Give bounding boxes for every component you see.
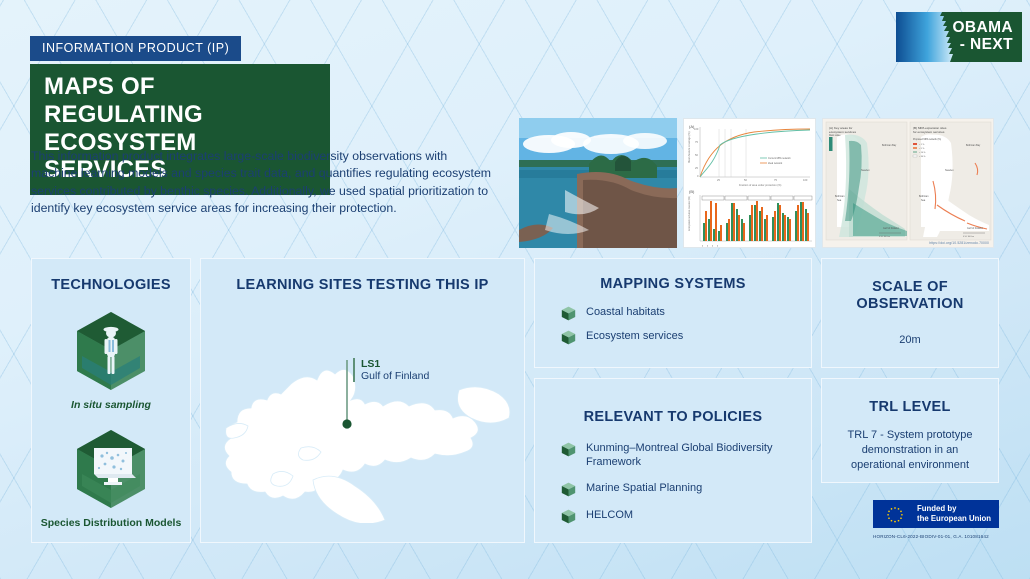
- svg-text:Fraction of area under protect: Fraction of area under protection (%): [739, 183, 782, 187]
- svg-text:+ 30 %: + 30 %: [919, 156, 926, 158]
- svg-text:+ 5 %: + 5 %: [919, 148, 925, 150]
- cube-bullet-icon: [561, 509, 576, 524]
- technology-item-species-distribution-models: Species Distribution Models: [32, 428, 190, 530]
- policies-title: RELEVANT TO POLICIES: [535, 409, 811, 426]
- results-chart-thumbnail: (A) 10075 50250 255075100 Fraction of ar…: [683, 118, 816, 248]
- scale-title: SCALE OF OBSERVATION: [822, 279, 998, 313]
- panel-learning-sites: LEARNING SITES TESTING THIS IP LS1 Gulf …: [200, 258, 525, 543]
- technology-label: Species Distribution Models: [32, 517, 190, 530]
- priority-maps-thumbnail: (A) Key areas for ecosystem services Ran…: [822, 118, 994, 248]
- svg-text:Gulf of Finland: Gulf of Finland: [967, 227, 983, 230]
- doi-link[interactable]: https://doi.org/10.5281/zenodo.70000: [929, 241, 989, 245]
- list-item: Ecosystem services: [561, 329, 811, 345]
- eu-funding-block: Funded by the European Union HORIZON-CL6…: [873, 500, 999, 539]
- eu-funding-line1: Funded by: [917, 504, 991, 514]
- scale-value: 20m: [822, 333, 998, 348]
- learning-site-label: LS1 Gulf of Finland: [353, 358, 429, 382]
- logo-line2: - NEXT: [952, 37, 1013, 54]
- svg-text:(B): (B): [689, 189, 695, 194]
- cube-bullet-icon: [561, 330, 576, 345]
- mapping-systems-title: MAPPING SYSTEMS: [535, 276, 811, 293]
- technology-label-rest: sampling: [102, 399, 151, 411]
- hero-image-row: (A) 10075 50250 255075100 Fraction of ar…: [519, 118, 994, 248]
- technologies-title: TECHNOLOGIES: [32, 277, 190, 294]
- europe-map: LS1 Gulf of Finland: [201, 298, 524, 523]
- eu-flag-icon: [880, 504, 910, 524]
- panel-mapping-systems: MAPPING SYSTEMS Coastal habitats Ecosyst…: [534, 258, 812, 368]
- list-item: Coastal habitats: [561, 305, 811, 321]
- list-item-label: HELCOM: [586, 508, 633, 522]
- svg-text:+ 1 %: + 1 %: [919, 144, 925, 146]
- logo-wave-icon: [896, 12, 956, 62]
- svg-text:100: 100: [803, 178, 808, 182]
- svg-text:0 50 100 km: 0 50 100 km: [879, 236, 890, 238]
- svg-text:ecosystem services: ecosystem services: [829, 130, 856, 134]
- list-item-label: Ecosystem services: [586, 329, 683, 343]
- site-marker: [342, 420, 351, 429]
- technology-label: In situ sampling: [32, 399, 190, 412]
- europe-map-graphic: [201, 298, 526, 523]
- svg-text:Mean feature coverage (%): Mean feature coverage (%): [687, 131, 691, 163]
- list-item: Marine Spatial Planning: [561, 481, 811, 497]
- eu-funding-text: Funded by the European Union: [917, 504, 991, 524]
- intro-paragraph: This information product integrates larg…: [31, 148, 496, 218]
- trl-title: TRL LEVEL: [822, 399, 998, 416]
- svg-text:for ecosystem services: for ecosystem services: [913, 130, 945, 134]
- header: INFORMATION PRODUCT (IP) MAPS OF REGULAT…: [0, 0, 1030, 250]
- coastal-photo: [519, 118, 677, 248]
- obama-next-logo: OBAMA - NEXT: [896, 12, 1022, 62]
- trl-value: TRL 7 - System prototype demonstration i…: [822, 428, 998, 473]
- coastal-photo-graphic: [519, 118, 677, 248]
- list-item: Kunming–Montreal Global Biodiversity Fra…: [561, 441, 811, 470]
- svg-text:Sweden: Sweden: [861, 169, 870, 172]
- svg-text:Stabilisation: Stabilisation: [716, 245, 719, 248]
- svg-text:Ideal network: Ideal network: [768, 162, 783, 165]
- cube-bullet-icon: [561, 442, 576, 457]
- scale-title-line2: OBSERVATION: [822, 296, 998, 313]
- technology-item-in-situ-sampling: In situ sampling: [32, 310, 190, 412]
- results-chart-graphic: (A) 10075 50250 255075100 Fraction of ar…: [684, 119, 816, 248]
- priority-maps-graphic: (A) Key areas for ecosystem services Ran…: [823, 119, 994, 248]
- policies-list: Kunming–Montreal Global Biodiversity Fra…: [561, 441, 811, 524]
- svg-text:Bioirrigation: Bioirrigation: [706, 245, 709, 248]
- eu-funding-line2: the European Union: [917, 514, 991, 524]
- svg-text:Proposed MPA network (%): Proposed MPA network (%): [913, 138, 941, 141]
- technology-label-italic: In situ: [71, 399, 102, 411]
- scale-title-line1: SCALE OF: [822, 279, 998, 296]
- svg-text:+ 10 %: + 10 %: [919, 152, 926, 154]
- list-item-label: Coastal habitats: [586, 305, 665, 319]
- svg-text:Bioturbation: Bioturbation: [701, 245, 704, 248]
- logo-text: OBAMA - NEXT: [952, 20, 1022, 53]
- hex-diver-icon: [74, 310, 148, 392]
- svg-text:Ecosystem services covered (%): Ecosystem services covered (%): [688, 196, 691, 231]
- eu-funding-badge: Funded by the European Union: [873, 500, 999, 528]
- svg-text:Bothnian Bay: Bothnian Bay: [966, 144, 981, 147]
- list-item-label: Marine Spatial Planning: [586, 481, 702, 495]
- mapping-systems-list: Coastal habitats Ecosystem services: [561, 305, 811, 345]
- learning-site-code: LS1: [361, 358, 429, 370]
- svg-text:Current MPA network: Current MPA network: [768, 157, 791, 160]
- information-product-badge: INFORMATION PRODUCT (IP): [30, 36, 241, 61]
- grant-agreement-number: HORIZON-CL6-2022-BIODIV-01-01, G.A. 1010…: [873, 534, 999, 539]
- svg-text:Bothnian: Bothnian: [835, 195, 845, 198]
- svg-text:100: 100: [694, 127, 699, 131]
- panel-relevant-policies: RELEVANT TO POLICIES Kunming–Montreal Gl…: [534, 378, 812, 543]
- hex-monitor-icon: [74, 428, 148, 510]
- logo-line1: OBAMA: [952, 20, 1013, 37]
- svg-text:Rank value: Rank value: [829, 135, 841, 137]
- learning-site-name: Gulf of Finland: [361, 370, 429, 382]
- cube-bullet-icon: [561, 482, 576, 497]
- page-title-line1: MAPS OF REGULATING: [44, 73, 203, 128]
- svg-text:Sweden: Sweden: [945, 169, 954, 172]
- svg-text:Bothnian Bay: Bothnian Bay: [882, 144, 897, 147]
- svg-text:Filtration: Filtration: [711, 245, 714, 248]
- panel-trl-level: TRL LEVEL TRL 7 - System prototype demon…: [821, 378, 999, 483]
- panel-scale-of-observation: SCALE OF OBSERVATION 20m: [821, 258, 999, 368]
- svg-text:Bothnian: Bothnian: [919, 195, 929, 198]
- list-item-label: Kunming–Montreal Global Biodiversity Fra…: [586, 441, 791, 470]
- list-item: HELCOM: [561, 508, 811, 524]
- svg-text:Gulf of Finland: Gulf of Finland: [883, 227, 899, 230]
- cube-bullet-icon: [561, 306, 576, 321]
- svg-text:Sea: Sea: [837, 199, 842, 202]
- svg-text:0 50 100 km: 0 50 100 km: [963, 236, 974, 238]
- svg-text:Sea: Sea: [921, 199, 926, 202]
- learning-sites-title: LEARNING SITES TESTING THIS IP: [201, 277, 524, 294]
- panel-technologies: TECHNOLOGIES In situ sampling: [31, 258, 191, 543]
